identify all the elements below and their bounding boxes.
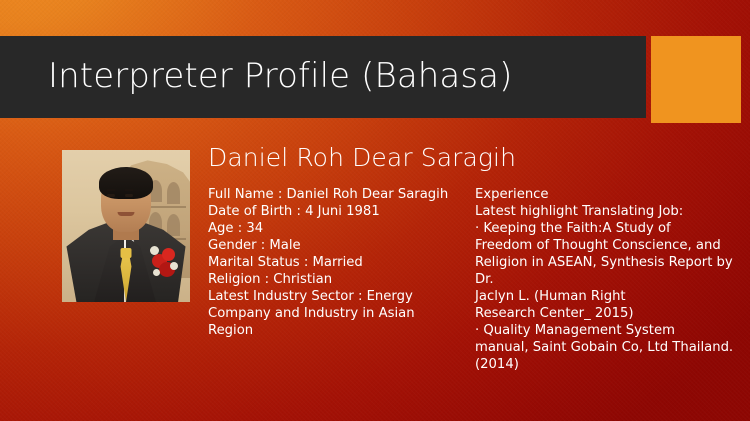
rose-petal	[162, 248, 175, 261]
tie-knot	[121, 248, 132, 258]
eyebrow-left	[106, 189, 116, 191]
profile-field-industry-cont-2: Region	[208, 322, 466, 339]
profile-name-heading: Daniel Roh Dear Saragih	[208, 143, 516, 172]
experience-heading: Experience	[475, 186, 743, 203]
arch-shape	[167, 214, 180, 236]
profile-field-date-of-birth: Date of Birth : 4 Juni 1981	[208, 203, 466, 220]
experience-item-2-line-2: manual, Saint Gobain Co, Ltd Thailand.	[475, 339, 743, 356]
profile-field-religion: Religion : Christian	[208, 271, 466, 288]
experience-subheading: Latest highlight Translating Job:	[475, 203, 743, 220]
experience-item-1-line-5: Research Center_ 2015)	[475, 305, 743, 322]
eye-right	[125, 194, 133, 197]
boutonniere	[150, 246, 180, 280]
experience-item-1-line-3: Religion in ASEAN, Synthesis Report by D…	[475, 254, 743, 288]
slide-canvas: Interpreter Profile (Bahasa)	[0, 0, 750, 421]
arch-shape	[167, 182, 180, 204]
experience-item-1-line-1: · Keeping the Faith:A Study of	[475, 220, 743, 237]
profile-photo	[62, 150, 190, 302]
page-title: Interpreter Profile (Bahasa)	[48, 56, 512, 96]
experience-item-1-line-2: Freedom of Thought Conscience, and	[475, 237, 743, 254]
experience-block: Experience Latest highlight Translating …	[475, 186, 743, 373]
baby-breath-bud	[153, 269, 160, 276]
profile-field-age: Age : 34	[208, 220, 466, 237]
profile-field-gender: Gender : Male	[208, 237, 466, 254]
eyebrow-right	[124, 189, 134, 191]
profile-field-full-name: Full Name : Daniel Roh Dear Saragih	[208, 186, 466, 203]
baby-breath-bud	[150, 246, 159, 255]
baby-breath-bud	[170, 262, 178, 270]
profile-details-block: Full Name : Daniel Roh Dear Saragih Date…	[208, 186, 466, 339]
experience-item-2-line-3: (2014)	[475, 356, 743, 373]
mouth	[118, 212, 135, 216]
profile-field-industry-cont-1: Company and Industry in Asian	[208, 305, 466, 322]
profile-field-industry-sector: Latest Industry Sector : Energy	[208, 288, 466, 305]
experience-item-1-line-4: Jaclyn L. (Human Right	[475, 288, 743, 305]
profile-field-marital-status: Marital Status : Married	[208, 254, 466, 271]
accent-block	[651, 36, 741, 123]
eye-left	[107, 194, 115, 197]
title-bar: Interpreter Profile (Bahasa)	[0, 36, 646, 118]
experience-item-2-line-1: · Quality Management System	[475, 322, 743, 339]
